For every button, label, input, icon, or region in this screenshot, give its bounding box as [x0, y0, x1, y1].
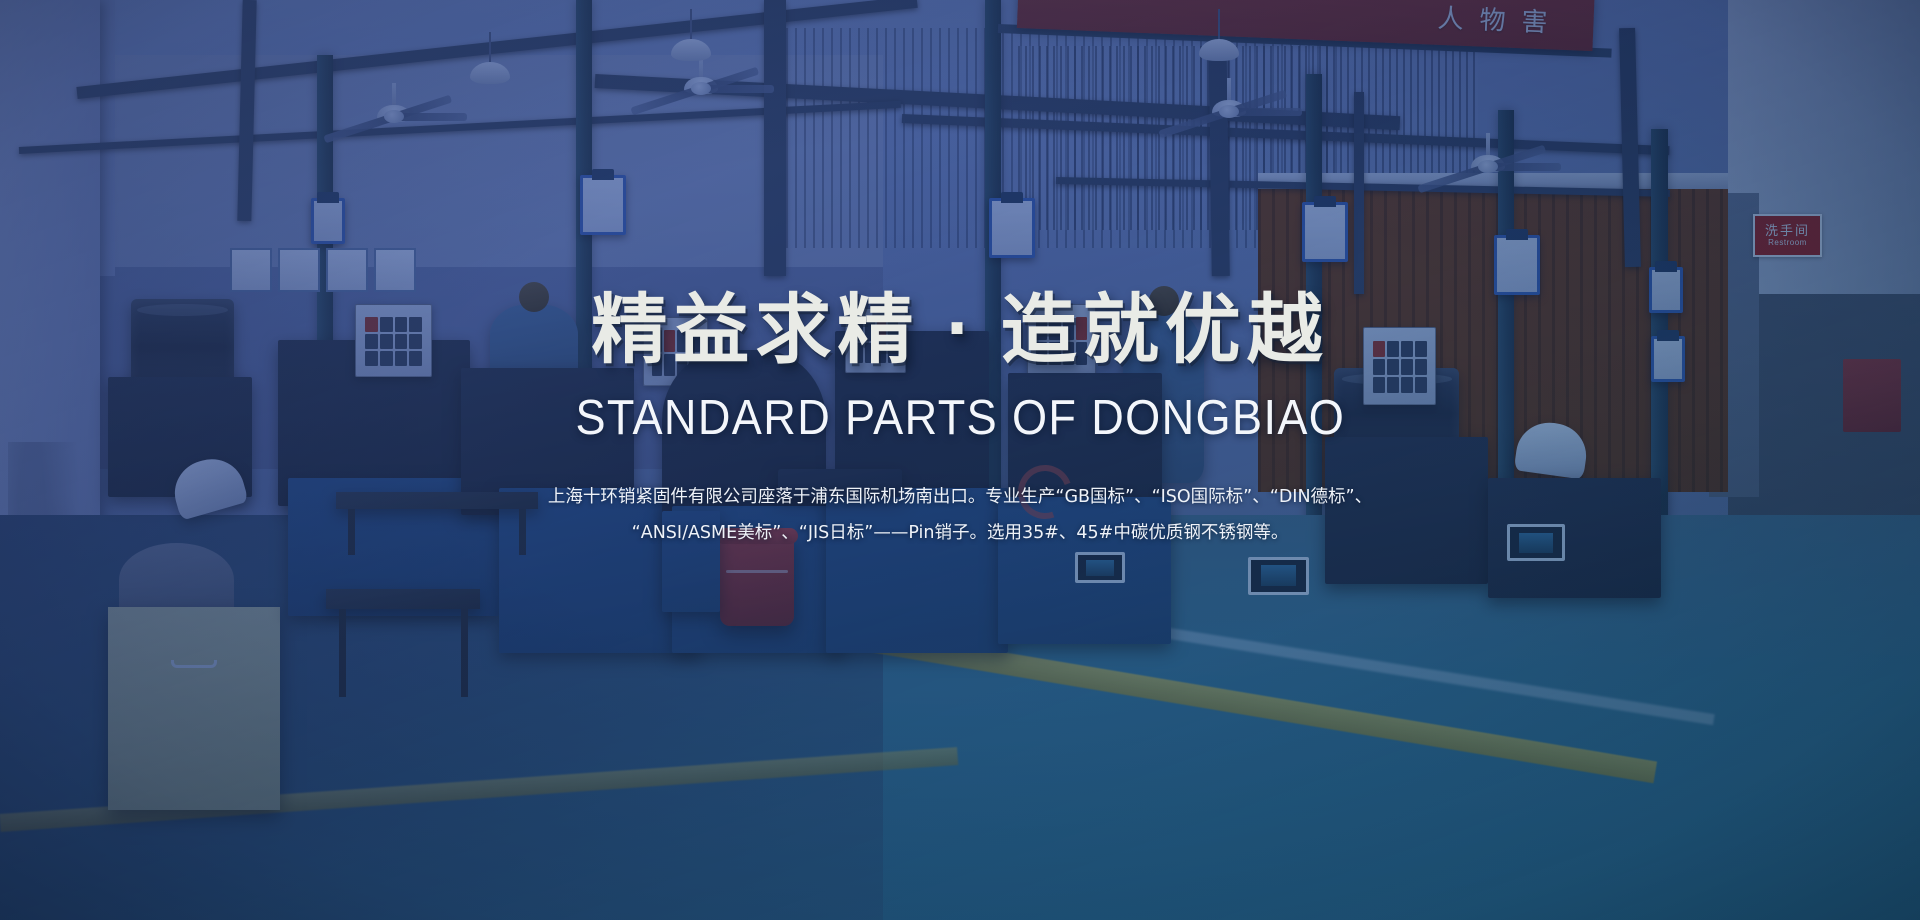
- vignette-overlay: [0, 0, 1920, 920]
- factory-photo-background: 人物害: [0, 0, 1920, 920]
- hero-banner: 人物害: [0, 0, 1920, 920]
